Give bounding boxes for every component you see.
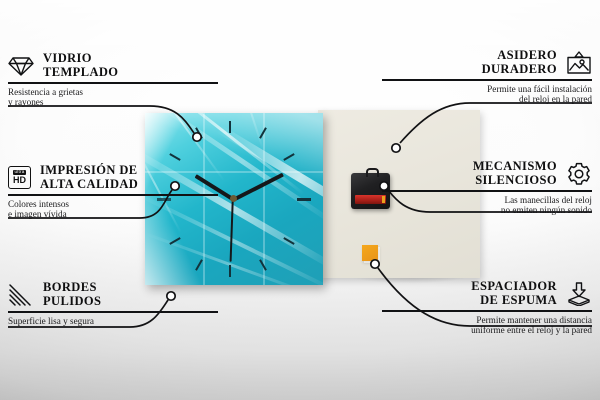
feature-heading: ASIDERO DURADERO: [382, 49, 592, 76]
feature-title-line2: DE ESPUMA: [471, 294, 557, 308]
infographic-canvas: VIDRIO TEMPLADO Resistencia a grietas y …: [0, 0, 600, 400]
feature-title-line2: PULIDOS: [43, 295, 101, 309]
ultra-hd-badge-icon: ultra HD: [8, 166, 31, 189]
arrow-onto-foam-pad-icon: [566, 282, 592, 306]
feature-title-line2: DURADERO: [482, 63, 557, 77]
feature-title: VIDRIO TEMPLADO: [43, 52, 118, 79]
feature-rule: [8, 311, 218, 313]
feature-title: IMPRESIÓN DE ALTA CALIDAD: [40, 164, 138, 191]
leader-line-asidero: [400, 103, 592, 143]
feature-mecanismo-silencioso[interactable]: MECANISMO SILENCIOSO Las manecillas del …: [382, 160, 592, 216]
feature-description: Permite mantener una distancia uniforme …: [382, 315, 592, 336]
feature-heading: BORDES PULIDOS: [8, 281, 218, 308]
hanging-picture-frame-icon: [566, 51, 592, 75]
hd-label: HD: [13, 176, 26, 185]
feature-heading: MECANISMO SILENCIOSO: [382, 160, 592, 187]
feature-impresion-alta-calidad[interactable]: ultra HD IMPRESIÓN DE ALTA CALIDAD Color…: [8, 164, 218, 220]
feature-description: Las manecillas del reloj no emiten ningú…: [382, 195, 592, 216]
leader-line-vidrio-templado: [8, 106, 194, 133]
leader-dot-vidrio-templado: [193, 133, 201, 141]
feature-description: Superficie lisa y segura: [8, 316, 218, 327]
feature-rule: [382, 79, 592, 81]
feature-title-line2: ALTA CALIDAD: [40, 178, 138, 192]
diamond-icon: [8, 55, 34, 77]
feature-title-line1: ESPACIADOR: [471, 280, 557, 294]
feature-vidrio-templado[interactable]: VIDRIO TEMPLADO Resistencia a grietas y …: [8, 52, 218, 108]
feature-espaciador-de-espuma[interactable]: ESPACIADOR DE ESPUMA Permite mantener un…: [382, 280, 592, 336]
feature-rule: [382, 310, 592, 312]
feature-title-line1: MECANISMO: [473, 160, 557, 174]
feature-heading: VIDRIO TEMPLADO: [8, 52, 218, 79]
feature-title-line1: ASIDERO: [482, 49, 557, 63]
gear-icon: [566, 162, 592, 186]
feature-description: Colores intensos e imagen vívida: [8, 199, 218, 220]
feature-asidero-duradero[interactable]: ASIDERO DURADERO Permite una fácil insta…: [382, 49, 592, 105]
diagonal-stripes-icon: [8, 284, 34, 306]
feature-title-line1: BORDES: [43, 281, 101, 295]
feature-title: ESPACIADOR DE ESPUMA: [471, 280, 557, 307]
feature-title-line1: IMPRESIÓN DE: [40, 164, 138, 178]
feature-heading: ultra HD IMPRESIÓN DE ALTA CALIDAD: [8, 164, 218, 191]
feature-title-line2: TEMPLADO: [43, 66, 118, 80]
feature-description: Permite una fácil instalación del reloj …: [382, 84, 592, 105]
feature-bordes-pulidos[interactable]: BORDES PULIDOS Superficie lisa y segura: [8, 281, 218, 326]
feature-heading: ESPACIADOR DE ESPUMA: [382, 280, 592, 307]
feature-title: BORDES PULIDOS: [43, 281, 101, 308]
feature-rule: [8, 194, 218, 196]
feature-title-line1: VIDRIO: [43, 52, 118, 66]
leader-dot-espaciador: [371, 260, 379, 268]
feature-title: ASIDERO DURADERO: [482, 49, 557, 76]
feature-title: MECANISMO SILENCIOSO: [473, 160, 557, 187]
feature-rule: [382, 190, 592, 192]
feature-title-line2: SILENCIOSO: [473, 174, 557, 188]
leader-dot-asidero: [392, 144, 400, 152]
feature-rule: [8, 82, 218, 84]
feature-description: Resistencia a grietas y rayones: [8, 87, 218, 108]
